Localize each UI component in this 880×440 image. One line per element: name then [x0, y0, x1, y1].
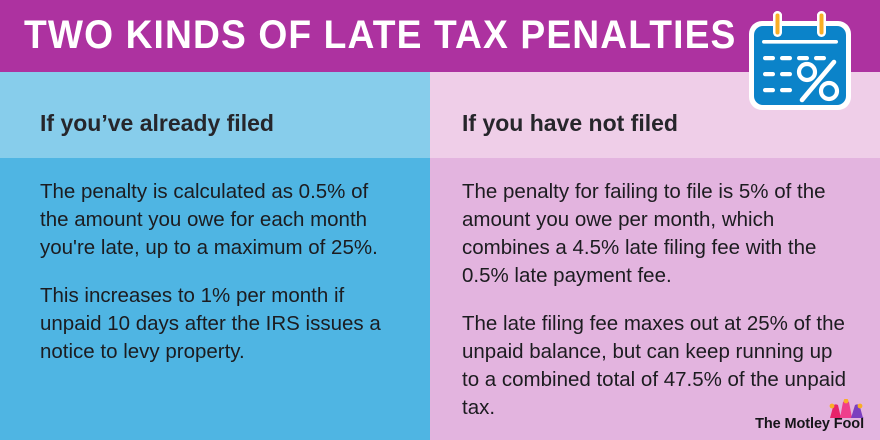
paragraph: The late filing fee maxes out at 25% of …: [462, 310, 848, 422]
column-not-filed: If you have not filed The penalty for fa…: [430, 72, 880, 440]
column-already-filed: If you’ve already filed The penalty is c…: [0, 72, 430, 440]
page-title: TWO KINDS OF LATE TAX PENALTIES: [24, 11, 736, 59]
jester-hat-icon: [828, 399, 864, 419]
paragraph: The penalty is calculated as 0.5% of the…: [40, 178, 390, 262]
columns-container: If you’ve already filed The penalty is c…: [0, 72, 880, 440]
column-header-already-filed: If you’ve already filed: [0, 72, 430, 158]
column-header-label: If you’ve already filed: [40, 110, 274, 137]
column-body-not-filed: The penalty for failing to file is 5% of…: [430, 158, 880, 422]
calendar-percent-icon: [745, 4, 855, 114]
column-header-label: If you have not filed: [462, 110, 678, 137]
motley-fool-logo: The Motley Fool: [755, 416, 864, 432]
infographic-root: TWO KINDS OF LATE TAX PENALTIES: [0, 0, 880, 440]
column-body-already-filed: The penalty is calculated as 0.5% of the…: [0, 158, 430, 366]
paragraph: The penalty for failing to file is 5% of…: [462, 178, 848, 290]
paragraph: This increases to 1% per month if unpaid…: [40, 282, 390, 366]
